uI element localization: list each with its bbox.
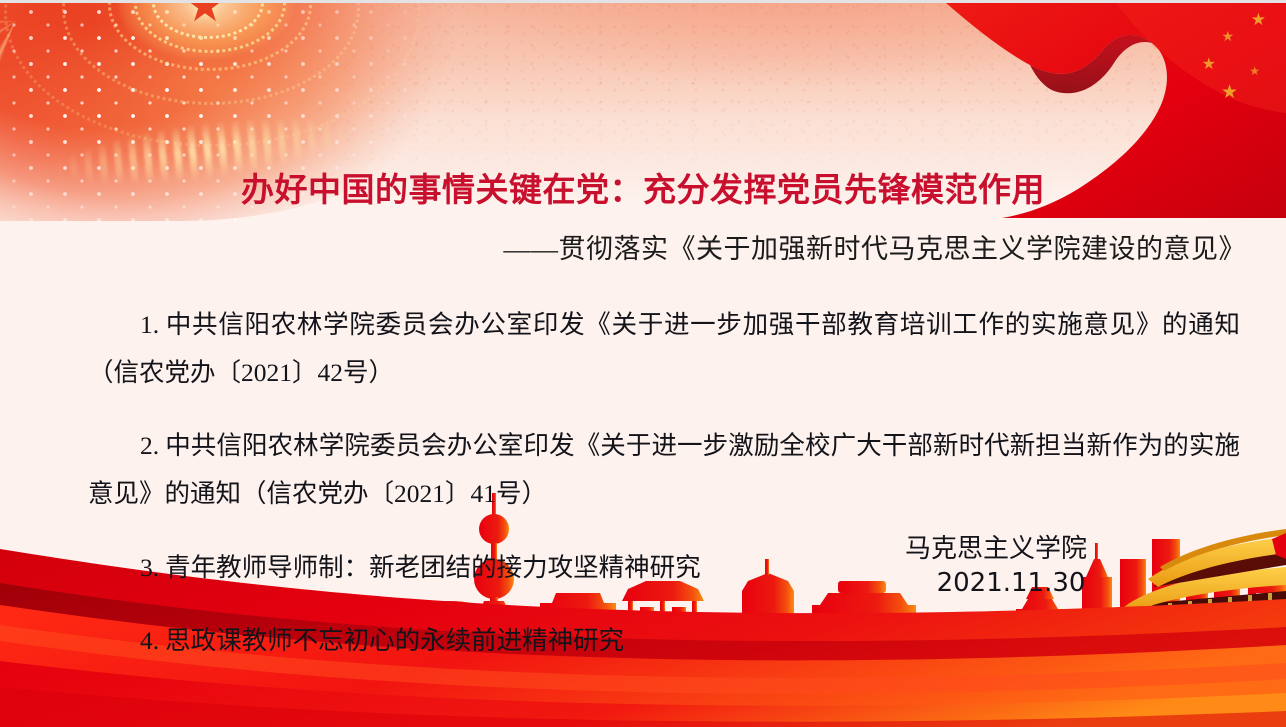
slide-content: 办好中国的事情关键在党：充分发挥党员先锋模范作用 ——贯彻落实《关于加强新时代马… [0, 3, 1286, 727]
presentation-slide: ★ ★ ★ ★ ★ ★ [0, 0, 1286, 727]
list-item-number: 1. [140, 310, 159, 339]
list-item-number: 2. [140, 431, 159, 460]
subtitle: ——贯彻落实《关于加强新时代马克思主义学院建设的意见》 [504, 227, 1247, 266]
list-item: 2.中共信阳农林学院委员会办公室印发《关于进一步激励全校广大干部新时代新担当新作… [88, 422, 1240, 518]
signature-block: 马克思主义学院 2021.11.30 [905, 532, 1135, 600]
list-item-text: 思政课教师不忘初心的永续前进精神研究 [165, 626, 624, 655]
list-item: 1.中共信阳农林学院委员会办公室印发《关于进一步加强干部教育培训工作的实施意见》… [88, 301, 1240, 397]
signature-date: 2021.11.30 [905, 566, 1135, 600]
list-item-text: 中共信阳农林学院委员会办公室印发《关于进一步激励全校广大干部新时代新担当新作为的… [88, 431, 1240, 508]
list-item-number: 4. [140, 626, 159, 655]
page-title: 办好中国的事情关键在党：充分发挥党员先锋模范作用 [0, 163, 1286, 211]
list-item-number: 3. [140, 553, 159, 582]
list-item-text: 青年教师导师制：新老团结的接力攻坚精神研究 [165, 553, 701, 582]
signature-organization: 马克思主义学院 [905, 532, 1135, 566]
list-item-text: 中共信阳农林学院委员会办公室印发《关于进一步加强干部教育培训工作的实施意见》的通… [88, 310, 1240, 387]
list-item: 4.思政课教师不忘初心的永续前进精神研究 [88, 617, 1240, 665]
numbered-list: 1.中共信阳农林学院委员会办公室印发《关于进一步加强干部教育培训工作的实施意见》… [88, 275, 1240, 665]
